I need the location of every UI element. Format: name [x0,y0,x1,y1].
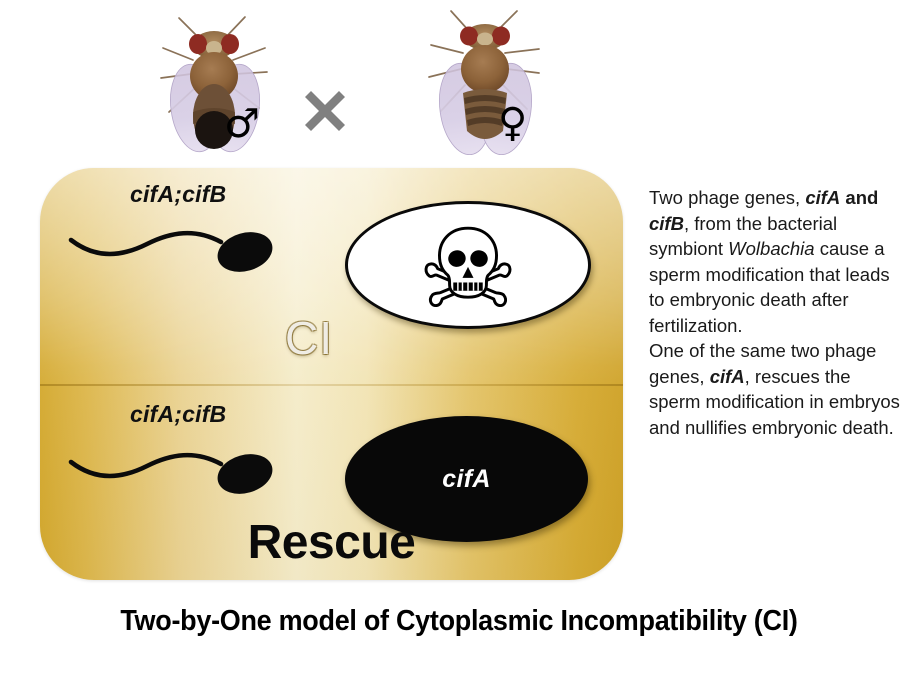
ci-rescue-panel: cifA;cifB CI [40,168,623,580]
cross-operator-icon [302,88,348,134]
rescue-gene-label-sperm: cifA;cifB [130,401,226,428]
paragraph-ci-description: Two phage genes, cifA and cifB, from the… [649,185,907,338]
embryonic-death-ellipse [345,201,591,329]
male-sex-symbol: ♂ [224,104,260,144]
ci-watermark-label: CI [285,311,333,365]
explanatory-text-column: Two phage genes, cifA and cifB, from the… [649,185,907,440]
skull-and-crossbones-icon [422,219,514,311]
p2-gene-cifa: cifA [710,366,745,387]
p1-part-1: Two phage genes, [649,187,805,208]
figure-caption: Two-by-One model of Cytoplasmic Incompat… [32,605,886,638]
female-sex-symbol: ♀ [498,103,527,143]
panel-divider [40,384,623,386]
rescue-cifa-label: cifA [442,465,490,494]
p1-gene-cifa: cifA [805,187,840,208]
modified-sperm-ci [65,216,300,286]
p1-part-2: and [840,187,878,208]
rescue-title: Rescue [40,515,623,570]
p1-organism-wolbachia: Wolbachia [728,238,814,259]
p1-gene-cifb: cifB [649,213,684,234]
fly-cross-row: ♂ [0,0,620,165]
modified-sperm-rescue [65,438,300,508]
paragraph-rescue-description: One of the same two phage genes, cifA, r… [649,338,907,440]
ci-gene-label: cifA;cifB [130,181,226,208]
